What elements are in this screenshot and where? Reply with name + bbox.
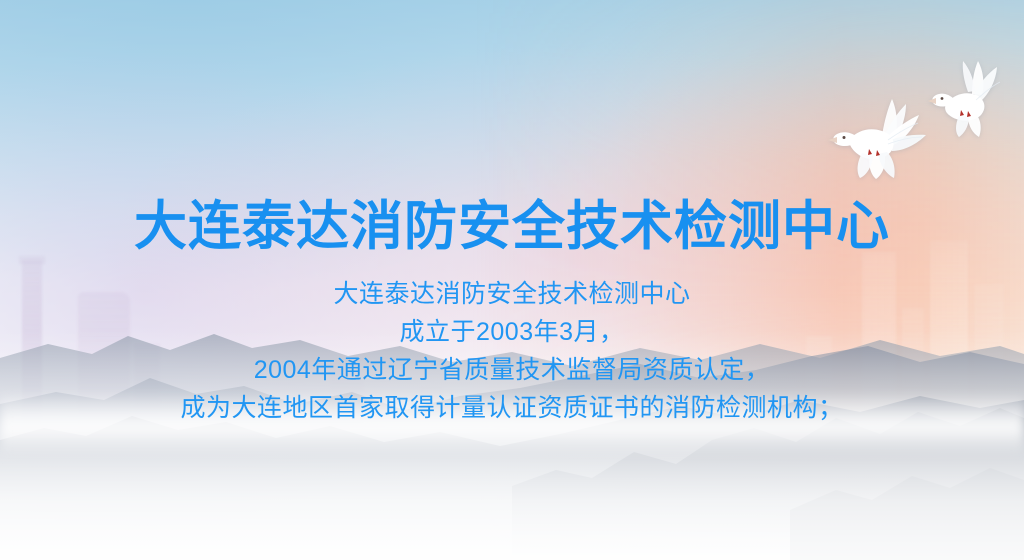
description-line: 成立于2003年3月， — [0, 313, 1024, 351]
banner-description: 大连泰达消防安全技术检测中心 成立于2003年3月， 2004年通过辽宁省质量技… — [0, 275, 1024, 427]
banner-title: 大连泰达消防安全技术检测中心 — [0, 196, 1024, 258]
description-line: 成为大连地区首家取得计量认证资质证书的消防检测机构； — [0, 389, 1024, 427]
promo-banner: 大连泰达消防安全技术检测中心 大连泰达消防安全技术检测中心 成立于2003年3月… — [0, 0, 1024, 560]
dove-left — [826, 96, 942, 180]
description-line: 大连泰达消防安全技术检测中心 — [0, 275, 1024, 313]
description-line: 2004年通过辽宁省质量技术监督局资质认定， — [0, 351, 1024, 389]
dove-right — [928, 58, 1020, 138]
